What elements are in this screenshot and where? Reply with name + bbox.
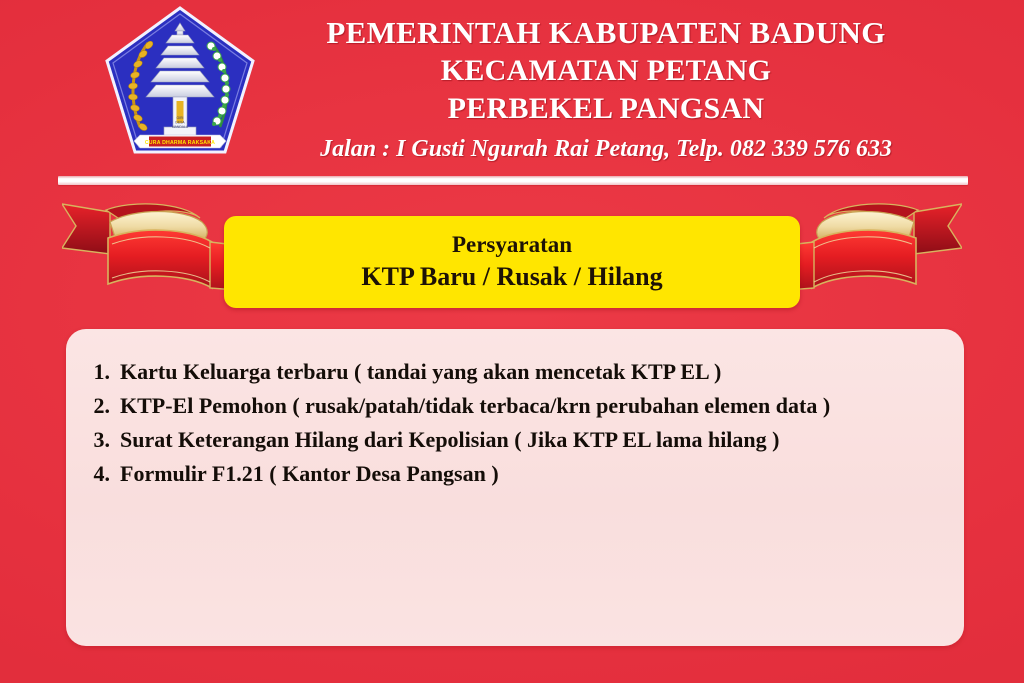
list-item: 3. Surat Keterangan Hilang dari Kepolisi… xyxy=(74,423,954,457)
title-plate: Persyaratan KTP Baru / Rusak / Hilang xyxy=(224,216,800,308)
title-line-1: Persyaratan xyxy=(452,230,572,260)
header-titles: PEMERINTAH KABUPATEN BADUNG KECAMATAN PE… xyxy=(256,14,956,164)
list-item-number: 2. xyxy=(74,389,110,423)
list-item-label: Surat Keterangan Hilang dari Kepolisian … xyxy=(120,423,954,457)
poster-canvas: GIRI DESA MANDALA CURA DHARMA RAKSAKA PE… xyxy=(0,0,1024,683)
poster-header: GIRI DESA MANDALA CURA DHARMA RAKSAKA PE… xyxy=(0,0,1024,190)
list-item-number: 1. xyxy=(74,355,110,389)
list-item-number: 3. xyxy=(74,423,110,457)
emblem-motto-banner: CURA DHARMA RAKSAKA xyxy=(134,135,226,148)
district-line: KECAMATAN PETANG xyxy=(256,52,956,90)
address-line: Jalan : I Gusti Ngurah Rai Petang, Telp.… xyxy=(256,134,956,164)
svg-text:DESA: DESA xyxy=(175,121,185,125)
svg-text:CURA DHARMA RAKSAKA: CURA DHARMA RAKSAKA xyxy=(145,140,215,146)
village-office-line: PERBEKEL PANGSAN xyxy=(256,90,956,128)
badung-regency-emblem-icon: GIRI DESA MANDALA CURA DHARMA RAKSAKA xyxy=(104,5,256,170)
list-item-number: 4. xyxy=(74,457,110,491)
list-item-label: KTP-El Pemohon ( rusak/patah/tidak terba… xyxy=(120,389,954,423)
list-item: 1. Kartu Keluarga terbaru ( tandai yang … xyxy=(74,355,954,389)
requirements-list: 1. Kartu Keluarga terbaru ( tandai yang … xyxy=(74,355,954,491)
list-item-label: Kartu Keluarga terbaru ( tandai yang aka… xyxy=(120,355,954,389)
svg-text:GIRI: GIRI xyxy=(177,116,184,120)
svg-text:MANDALA: MANDALA xyxy=(172,125,189,129)
header-divider xyxy=(58,176,968,185)
government-line: PEMERINTAH KABUPATEN BADUNG xyxy=(256,14,956,52)
list-item: 2. KTP-El Pemohon ( rusak/patah/tidak te… xyxy=(74,389,954,423)
requirements-panel: 1. Kartu Keluarga terbaru ( tandai yang … xyxy=(66,329,964,646)
title-line-2: KTP Baru / Rusak / Hilang xyxy=(361,260,662,294)
list-item-label: Formulir F1.21 ( Kantor Desa Pangsan ) xyxy=(120,457,954,491)
list-item: 4. Formulir F1.21 ( Kantor Desa Pangsan … xyxy=(74,457,954,491)
